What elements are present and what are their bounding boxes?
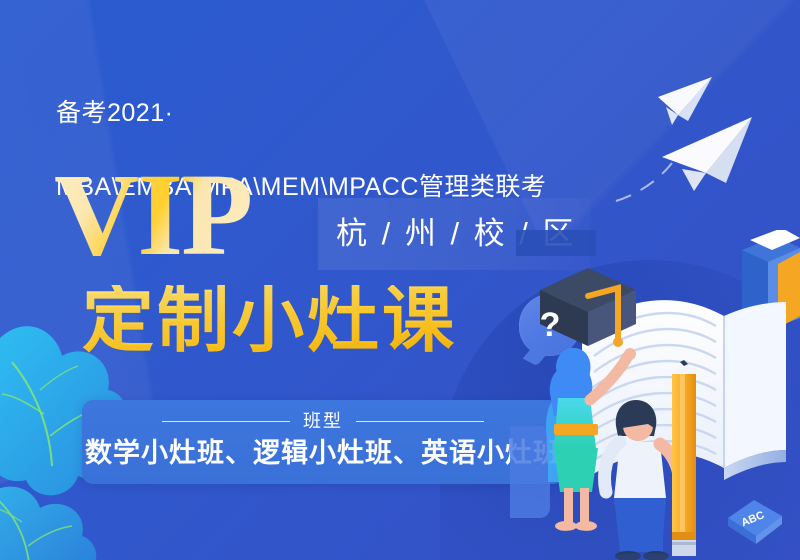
promo-banner: 备考2021· MBA\EMBA\MPA\MEM\MPACC管理类联考 VIP … xyxy=(0,0,800,560)
man-figure xyxy=(604,400,689,560)
plane-trail xyxy=(616,163,672,201)
header-line-1: 备考2021· xyxy=(56,95,546,132)
paper-plane-small-icon xyxy=(658,77,712,125)
class-type-label: 班型 xyxy=(303,410,343,432)
campus-label: 杭 / 州 / 校 / 区 xyxy=(336,213,577,255)
open-book-icon xyxy=(582,300,786,482)
paper-plane-decoration xyxy=(610,55,800,205)
divider-right xyxy=(356,421,484,422)
sub-title: 定制小灶课 xyxy=(82,285,457,357)
class-type-box: 班型 数学小灶班、逻辑小灶班、英语小灶班 xyxy=(82,400,564,484)
abc-block-label: ABC xyxy=(740,509,767,529)
question-mark-label: ? xyxy=(540,308,561,342)
question-bubble-icon: ? xyxy=(519,294,581,356)
stacked-books-icon xyxy=(742,230,800,330)
paper-plane-large-icon xyxy=(662,117,752,191)
class-type-title-row: 班型 xyxy=(82,410,564,432)
education-illustration xyxy=(510,230,800,560)
pencil-icon xyxy=(672,360,696,556)
class-type-courses: 数学小灶班、逻辑小灶班、英语小灶班 xyxy=(82,436,564,470)
vip-title: VIP xyxy=(54,161,257,270)
vip-title-row: VIP xyxy=(54,160,257,270)
abc-block-icon: ABC xyxy=(724,494,786,546)
divider-left xyxy=(162,421,290,422)
